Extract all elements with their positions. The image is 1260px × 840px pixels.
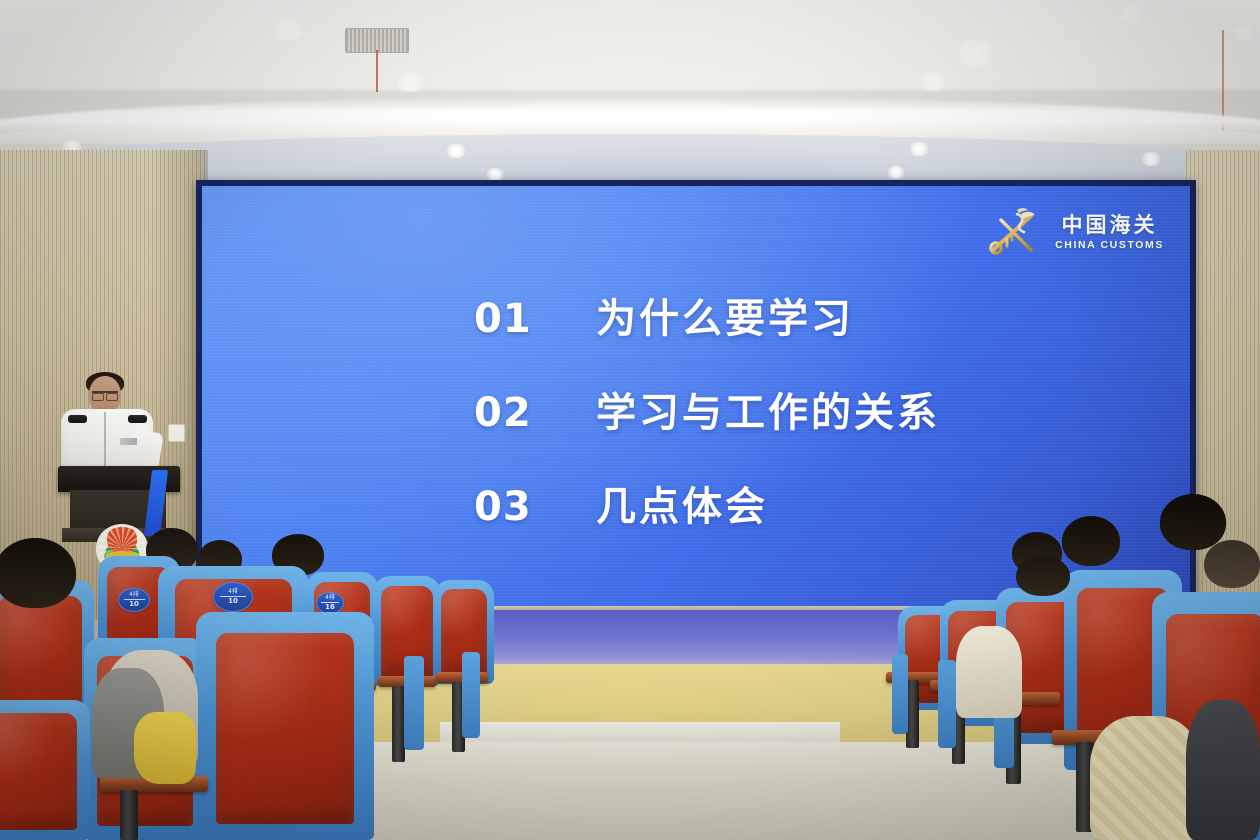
audience-head (1160, 494, 1226, 550)
agenda-list: 01 为什么要学习 02 学习与工作的关系 03 几点体会 (474, 286, 940, 532)
ceiling-downlight (919, 72, 947, 91)
ceiling-highlight (0, 0, 1260, 90)
agenda-label: 几点体会 (596, 474, 768, 532)
seat-back-pad (216, 633, 355, 825)
audience-head (1204, 540, 1260, 588)
agenda-item: 02 学习与工作的关系 (474, 380, 940, 438)
auditorium-photo-scene: 中国海关 CHINA CUSTOMS 01 为什么要学习 02 学习与工作的关系… (0, 0, 1260, 840)
wall-switch-plate (168, 424, 185, 442)
audience-head (1062, 516, 1120, 566)
audience-head (1016, 556, 1070, 596)
agenda-item: 01 为什么要学习 (474, 286, 940, 344)
seat-number-badge: 4排 10 (213, 582, 253, 612)
aisle-step (440, 722, 840, 744)
logo-chinese-text: 中国海关 (1062, 215, 1158, 236)
ceiling-downlight (955, 40, 995, 66)
audience-torso (1186, 700, 1260, 840)
glasses-icon (92, 391, 118, 400)
seat-number-label: 10 (129, 601, 139, 608)
seat-side-panel (938, 660, 956, 748)
ceiling-downlight (272, 18, 306, 40)
china-customs-emblem-icon (987, 206, 1045, 260)
agenda-number: 01 (474, 296, 596, 342)
uniform-name-badge (120, 438, 137, 445)
uniform-epaulet-left (68, 415, 87, 423)
soffit-downlight (1232, 26, 1254, 40)
agenda-label: 学习与工作的关系 (596, 380, 940, 438)
uniform-placket (104, 412, 106, 470)
seat-side-panel (892, 654, 908, 734)
uniform-epaulet-right (128, 415, 147, 423)
agenda-number: 03 (474, 484, 596, 530)
seat-side-panel (404, 656, 424, 750)
auditorium-seat[interactable] (196, 612, 374, 840)
seat-side-panel (462, 652, 480, 738)
ceiling-downlight (1120, 6, 1144, 22)
sprinkler-drop-icon (376, 50, 378, 92)
auditorium-seat[interactable] (0, 700, 90, 840)
seat-row-label: 4排 (228, 589, 238, 595)
logo-english-text: CHINA CUSTOMS (1055, 240, 1164, 251)
agenda-item: 03 几点体会 (474, 474, 940, 532)
agenda-label: 为什么要学习 (596, 286, 854, 344)
agenda-number: 02 (474, 390, 596, 436)
audience-sleeve (134, 712, 196, 784)
soffit-downlight (908, 142, 930, 156)
seat-back-pad (0, 713, 77, 831)
soffit-downlight (445, 144, 467, 158)
seat-number-badge: 4排 10 (118, 588, 150, 612)
seat-number-badge: 4排 16 (316, 592, 344, 614)
china-customs-logo-text: 中国海关 CHINA CUSTOMS (1055, 215, 1164, 251)
audience-torso (956, 626, 1022, 718)
seat-number-label: 10 (228, 598, 238, 605)
seat-row-label: 4排 (325, 595, 335, 601)
soffit-downlight (1140, 152, 1162, 166)
soffit-downlight (886, 166, 906, 179)
seat-number-label: 16 (325, 604, 335, 611)
china-customs-logo: 中国海关 CHINA CUSTOMS (987, 206, 1164, 260)
audience-head (0, 538, 76, 608)
ceiling-downlight (395, 72, 425, 92)
seat-row-label: 4排 (129, 592, 139, 598)
seat-leg (120, 790, 138, 840)
